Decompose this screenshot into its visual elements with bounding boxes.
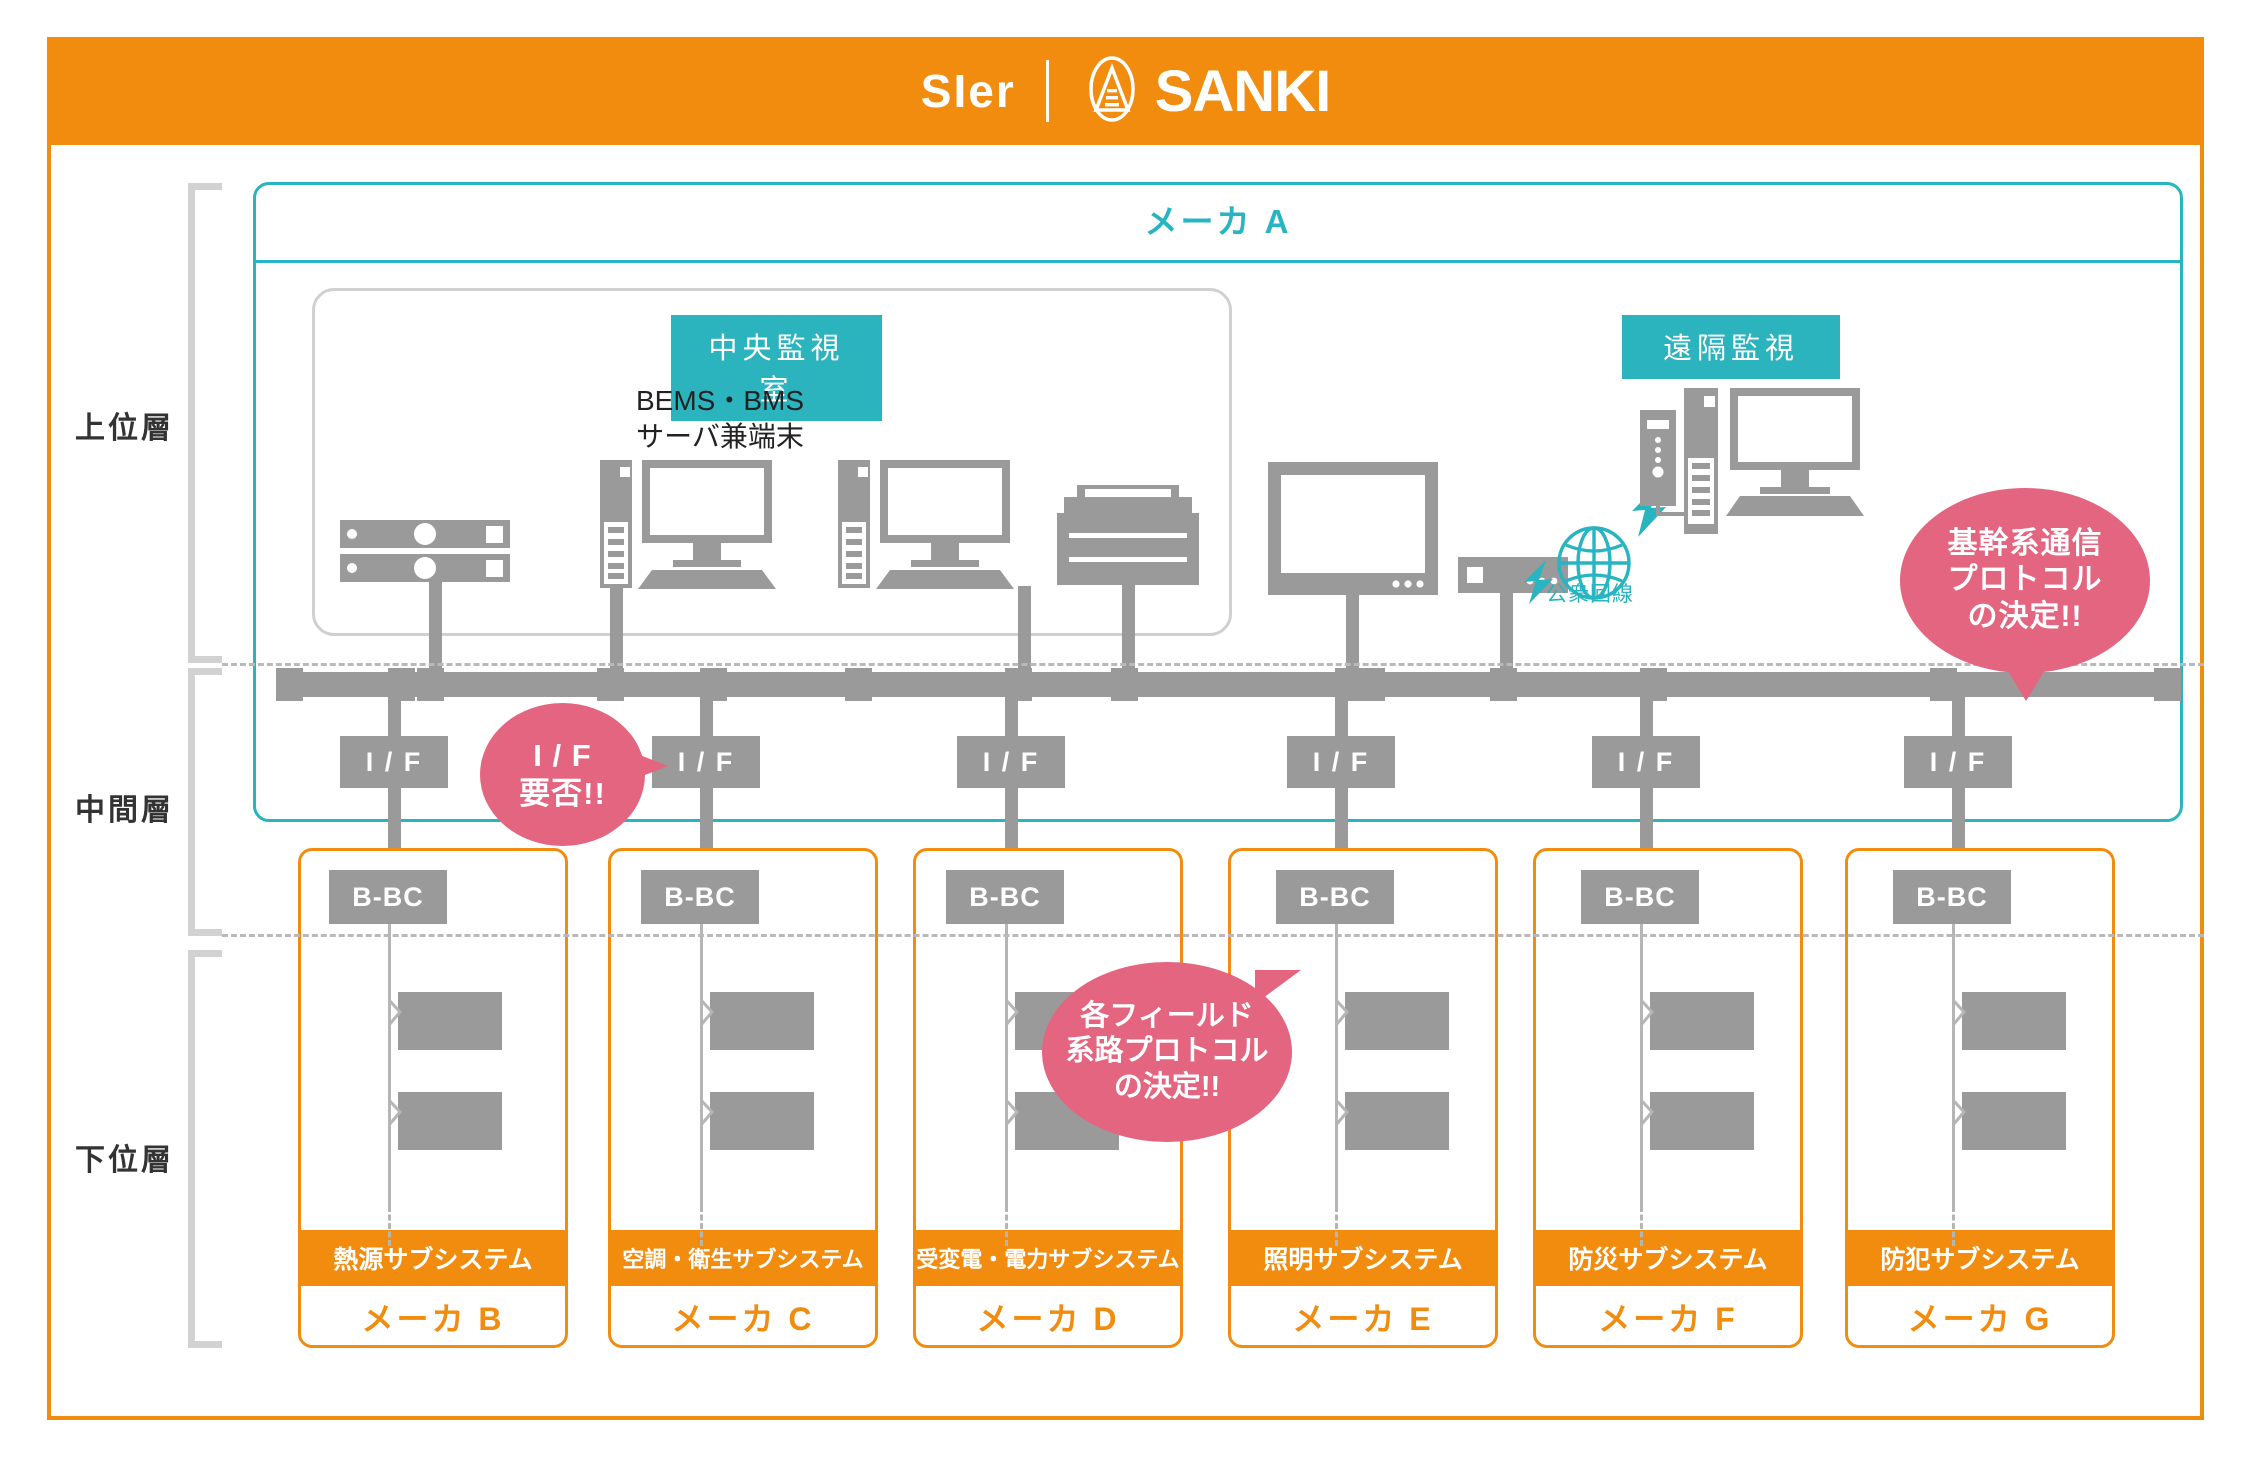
field-bus-3 [1005,924,1008,1206]
callout-trunk-tail [2004,665,2048,701]
network-switch-drop-line [1500,593,1513,674]
desktop-pc-2-drop-line [1018,586,1031,674]
subsystem-name-5: 防災サブシステム [1536,1230,1800,1286]
field-bus-6 [1952,924,1955,1206]
subsystem-name-1: 熱源サブシステム [301,1230,565,1286]
bus-node [276,668,303,701]
layer-label-upper: 上位層 [75,403,174,447]
callout-trunk-line1: 基幹系通信 [1948,527,2103,560]
sanki-triangle-logo-icon [1079,56,1145,127]
if-riser-1-bottom [388,788,401,850]
layer-label-middle: 中間層 [75,785,174,829]
field-bus-dash-6 [1952,1206,1955,1246]
layer-bracket-lower [188,950,222,1348]
lightning-left-icon [1519,560,1559,609]
if-riser-4-bottom [1335,788,1348,850]
bus-node [1111,668,1138,701]
field-device-4a [1345,992,1449,1050]
desktop-pc-1-drop-line [610,586,623,674]
server-caption: BEMS・BMS サーバ兼端末 [560,383,880,455]
subsystem-maker-3: メーカ D [916,1286,1180,1348]
interface-box-6[interactable]: I / F [1904,736,2012,788]
interface-box-1[interactable]: I / F [340,736,448,788]
remote-monitor-chip: 遠隔監視 [1622,315,1840,379]
diagram-canvas: SIer SANKI 上位層 中間層 下位層 [0,0,2251,1459]
field-bus-4 [1335,924,1338,1206]
field-device-2b [710,1092,814,1150]
printer-icon [1057,485,1199,600]
server-rack-drop-line [429,582,442,674]
bus-node [845,668,872,701]
field-bus-2 [700,924,703,1206]
subsystem-name-2: 空調・衛生サブシステム [611,1230,875,1286]
callout-field-line2: 系路プロトコル [1065,1035,1268,1067]
interface-box-4[interactable]: I / F [1287,736,1395,788]
callout-field-tail [1255,970,1301,1004]
divider-upper-middle [222,663,2204,666]
sier-label: SIer [921,64,1016,118]
public-line-label: 公衆回線 [1546,578,1634,608]
field-device-5a [1650,992,1754,1050]
controller-box-6[interactable]: B-BC [1893,870,2011,924]
maker-a-title: メーカ A [253,195,2183,243]
maker-a-separator [253,260,2183,263]
field-device-6b [1962,1092,2066,1150]
controller-box-1[interactable]: B-BC [329,870,447,924]
subsystem-name-3: 受変電・電力サブシステム [916,1230,1180,1286]
bus-node [1490,668,1517,701]
field-device-5b [1650,1092,1754,1150]
large-display-icon [1268,462,1438,600]
field-bus-dash-1 [388,1206,391,1246]
if-riser-4-top [1335,697,1348,736]
controller-box-5[interactable]: B-BC [1581,870,1699,924]
subsystem-maker-6: メーカ G [1848,1286,2112,1348]
desktop-pc-icon [838,460,1038,595]
callout-if-required: I / F 要否!! [480,703,645,846]
server-caption-line2: サーバ兼端末 [636,421,804,452]
interface-box-5[interactable]: I / F [1592,736,1700,788]
callout-if-line1: I / F [533,738,591,773]
if-riser-6-top [1952,697,1965,736]
controller-box-3[interactable]: B-BC [946,870,1064,924]
if-riser-6-bottom [1952,788,1965,850]
header-divider [1046,60,1049,122]
field-bus-dash-5 [1640,1206,1643,1246]
if-riser-5-top [1640,697,1653,736]
field-bus-dash-2 [700,1206,703,1246]
field-bus-1 [388,924,391,1206]
field-device-1b [398,1092,502,1150]
layer-bracket-middle [188,668,222,936]
callout-trunk-line2: プロトコル [1948,563,2103,596]
callout-if-tail [632,752,668,780]
callout-trunk-protocol: 基幹系通信 プロトコル の決定!! [1900,488,2150,673]
callout-trunk-line3: の決定!! [1968,600,2083,633]
field-device-4b [1345,1092,1449,1150]
field-device-2a [710,992,814,1050]
layer-bracket-upper [188,183,222,663]
if-riser-1-top [388,697,401,736]
layer-label-lower: 下位層 [75,1135,174,1179]
if-riser-2-top [700,697,713,736]
callout-field-line3: の決定!! [1114,1071,1220,1103]
field-bus-5 [1640,924,1643,1206]
subsystem-maker-1: メーカ B [301,1286,565,1348]
bus-node [2154,668,2181,701]
sanki-wordmark: SANKI [1155,58,1330,125]
controller-box-4[interactable]: B-BC [1276,870,1394,924]
server-rack-icon [340,520,510,595]
divider-middle-lower [222,934,2204,937]
header-bar: SIer SANKI [47,37,2204,145]
interface-box-3[interactable]: I / F [957,736,1065,788]
field-bus-dash-3 [1005,1206,1008,1246]
bus-node [1358,668,1385,701]
subsystem-maker-4: メーカ E [1231,1286,1495,1348]
server-caption-line1: BEMS・BMS [636,385,804,416]
trunk-bus [276,672,2181,697]
subsystem-name-4: 照明サブシステム [1231,1230,1495,1286]
bus-node [417,668,444,701]
field-device-1a [398,992,502,1050]
controller-box-2[interactable]: B-BC [641,870,759,924]
callout-if-line2: 要否!! [519,776,606,811]
if-riser-3-bottom [1005,788,1018,850]
subsystem-maker-5: メーカ F [1536,1286,1800,1348]
bus-node [597,668,624,701]
subsystem-name-6: 防犯サブシステム [1848,1230,2112,1286]
interface-box-2[interactable]: I / F [652,736,760,788]
if-riser-3-top [1005,697,1018,736]
desktop-pc-icon [600,460,800,595]
field-bus-dash-4 [1335,1206,1338,1246]
if-riser-2-bottom [700,788,713,850]
if-riser-5-bottom [1640,788,1653,850]
callout-field-line1: 各フィールド [1080,1000,1253,1032]
printer-drop-line [1122,585,1135,674]
subsystem-maker-2: メーカ C [611,1286,875,1348]
remote-pc-icon [1640,388,1880,541]
field-device-6a [1962,992,2066,1050]
